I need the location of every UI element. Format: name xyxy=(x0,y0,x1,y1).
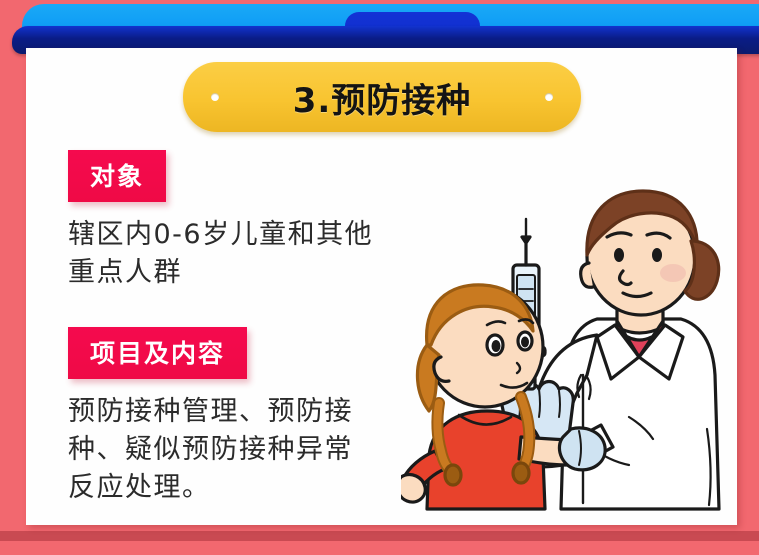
page-title: 3.预防接种 xyxy=(293,73,472,122)
card-bottom-accent xyxy=(0,531,759,541)
section-body-target: 辖区内0-6岁儿童和其他 重点人群 xyxy=(68,216,468,293)
badge-rivet-right-icon xyxy=(545,93,553,101)
content-column: 对象 辖区内0-6岁儿童和其他 重点人群 项目及内容 预防接种管理、预防接 种、… xyxy=(68,150,468,508)
section-body-items: 预防接种管理、预防接 种、疑似预防接种异常 反应处理。 xyxy=(68,393,468,508)
section-chip-items: 项目及内容 xyxy=(68,327,247,379)
section-items: 项目及内容 预防接种管理、预防接 种、疑似预防接种异常 反应处理。 xyxy=(68,327,468,508)
badge-rivet-left-icon xyxy=(211,93,219,101)
title-badge: 3.预防接种 xyxy=(183,62,581,132)
section-target: 对象 辖区内0-6岁儿童和其他 重点人群 xyxy=(68,150,468,293)
poster-root: 3.预防接种 对象 辖区内0-6岁儿童和其他 重点人群 项目及内容 预防接种管理… xyxy=(0,0,759,555)
section-chip-target: 对象 xyxy=(68,150,166,202)
